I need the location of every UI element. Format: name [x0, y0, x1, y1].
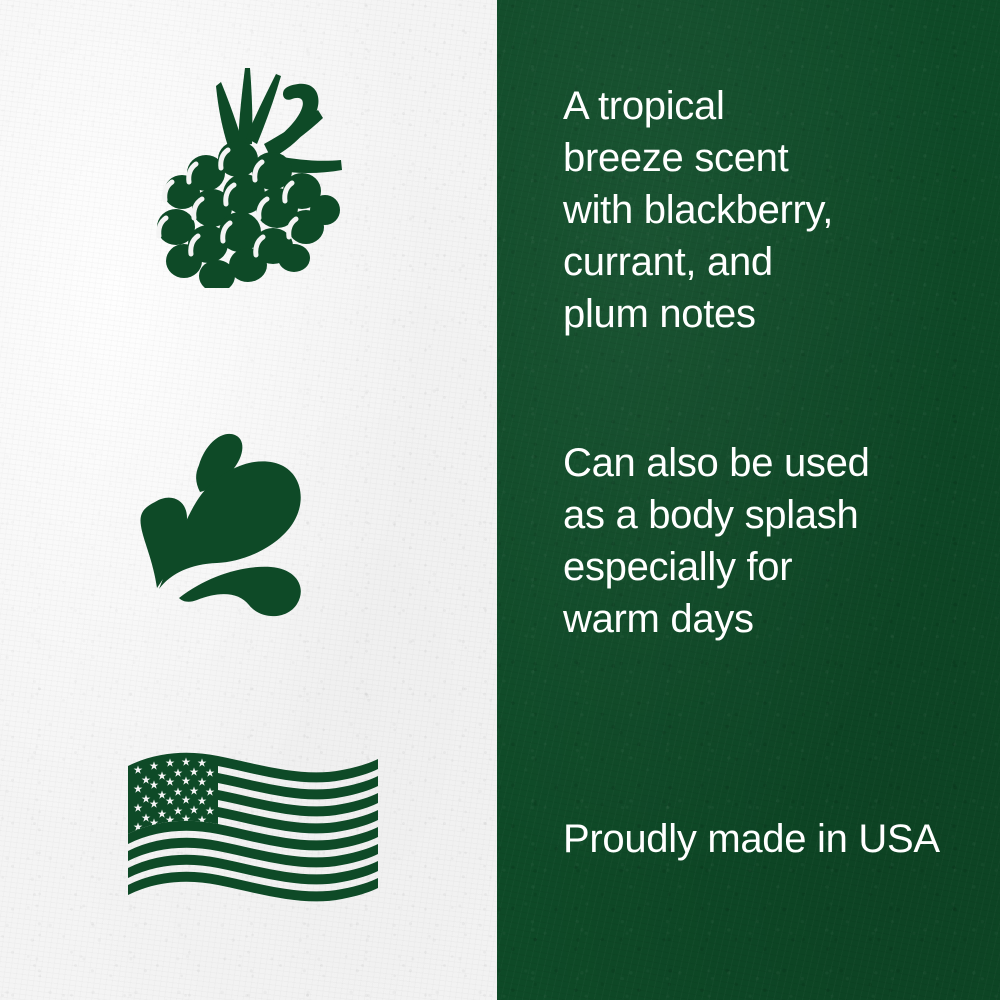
feature-text-origin: Proudly made in USA	[563, 813, 1000, 865]
feature-text-column: A tropical breeze scent with blackberry,…	[497, 0, 1000, 1000]
blackberry-icon	[126, 52, 348, 288]
usa-flag-icon	[126, 748, 380, 908]
icon-column	[0, 0, 497, 1000]
product-feature-panel: A tropical breeze scent with blackberry,…	[0, 0, 1000, 1000]
feature-text-scent: A tropical breeze scent with blackberry,…	[563, 80, 983, 340]
splash-icon	[131, 428, 309, 624]
feature-text-usage: Can also be used as a body splash especi…	[563, 437, 983, 645]
